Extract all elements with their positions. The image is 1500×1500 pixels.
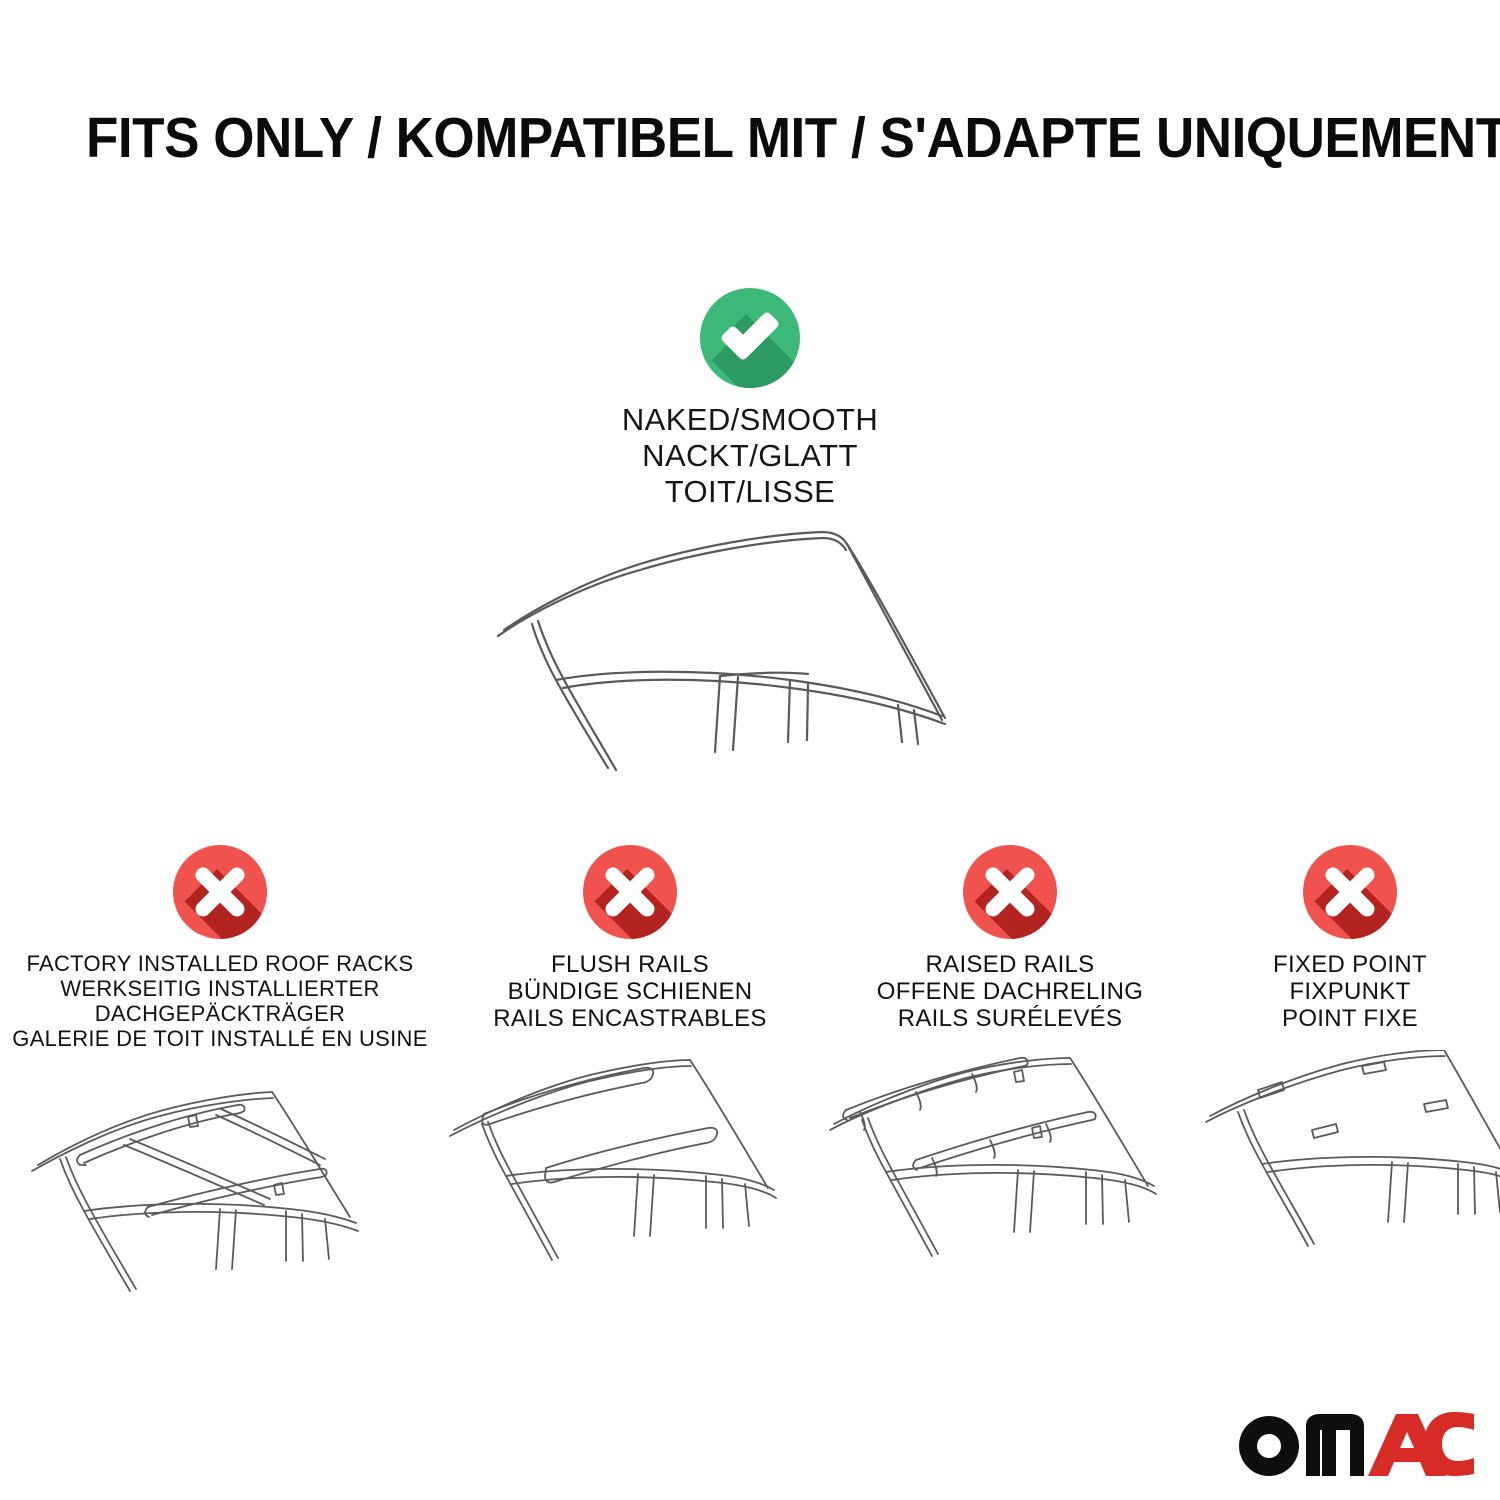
incompatible-item-raised-rails: RAISED RAILS OFFENE DACHRELING RAILS SUR… (820, 845, 1200, 1280)
incompatible-label-group: FIXED POINT FIXPUNKT POINT FIXE (1200, 951, 1500, 1032)
incompatible-label-line-2: FIXPUNKT (1200, 978, 1500, 1005)
incompatible-label-line-1: FLUSH RAILS (440, 951, 820, 978)
smooth-roof-illustration (0, 520, 1500, 790)
incompatible-label-line-2: WERKSEITIG INSTALLIERTER (0, 976, 440, 1001)
incompatible-label-line-2: BÜNDIGE SCHIENEN (440, 978, 820, 1005)
fixed-point-illustration (1200, 1050, 1500, 1280)
incompatible-label-line-2: OFFENE DACHRELING (820, 978, 1200, 1005)
x-circle-icon (1303, 845, 1397, 939)
incompatible-label-group: FLUSH RAILS BÜNDIGE SCHIENEN RAILS ENCAS… (440, 951, 820, 1032)
incompatible-label-line-3: RAILS SURÉLEVÉS (820, 1005, 1200, 1032)
incompatible-label-line-3: RAILS ENCASTRABLES (440, 1005, 820, 1032)
compatible-label-line-2: NACKT/GLATT (0, 438, 1500, 474)
check-circle-icon (700, 288, 800, 388)
incompatible-item-fixed-point: FIXED POINT FIXPUNKT POINT FIXE (1200, 845, 1500, 1280)
incompatible-label-group: FACTORY INSTALLED ROOF RACKS WERKSEITIG … (0, 951, 440, 1051)
x-circle-icon (173, 845, 267, 939)
x-circle-icon (963, 845, 1057, 939)
omac-logo (1238, 1408, 1474, 1480)
incompatible-label-line-4: GALERIE DE TOIT INSTALLÉ EN USINE (0, 1026, 440, 1051)
compatible-label-group: NAKED/SMOOTH NACKT/GLATT TOIT/LISSE (0, 402, 1500, 510)
flush-rails-illustration (440, 1050, 820, 1280)
x-circle-icon (583, 845, 677, 939)
incompatible-label-line-3: POINT FIXE (1200, 1005, 1500, 1032)
incompatible-label-group: RAISED RAILS OFFENE DACHRELING RAILS SUR… (820, 951, 1200, 1032)
incompatible-label-line-3: DACHGEPÄCKTRÄGER (0, 1001, 440, 1026)
compatible-section: NAKED/SMOOTH NACKT/GLATT TOIT/LISSE (0, 288, 1500, 510)
compatible-label-line-3: TOIT/LISSE (0, 474, 1500, 510)
incompatible-section: FACTORY INSTALLED ROOF RACKS WERKSEITIG … (0, 845, 1500, 1299)
raised-rails-illustration (820, 1050, 1200, 1280)
compatible-label-line-1: NAKED/SMOOTH (0, 402, 1500, 438)
factory-roof-rack-illustration (0, 1069, 440, 1299)
incompatible-item-factory-roof-racks: FACTORY INSTALLED ROOF RACKS WERKSEITIG … (0, 845, 440, 1299)
incompatible-label-line-1: FACTORY INSTALLED ROOF RACKS (0, 951, 440, 976)
incompatible-item-flush-rails: FLUSH RAILS BÜNDIGE SCHIENEN RAILS ENCAS… (440, 845, 820, 1280)
incompatible-label-line-1: FIXED POINT (1200, 951, 1500, 978)
incompatible-label-line-1: RAISED RAILS (820, 951, 1200, 978)
page-title: FITS ONLY / KOMPATIBEL MIT / S'ADAPTE UN… (86, 108, 1500, 168)
